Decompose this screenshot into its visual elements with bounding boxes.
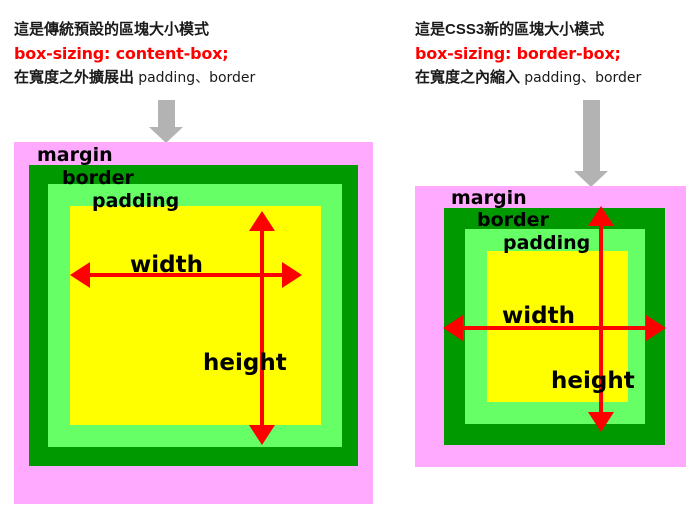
margin-label: margin — [451, 187, 527, 209]
height-label: height — [203, 350, 287, 376]
height-measure-arrow — [585, 206, 617, 432]
content-box-diagram: margin border padding — [14, 142, 373, 504]
arrow-vertical-line — [260, 225, 264, 431]
right-caption-line-1: 這是CSS3新的區塊大小模式 — [415, 18, 641, 42]
padding-label: padding — [503, 232, 590, 254]
arrow-down-icon — [574, 100, 609, 187]
right-caption-line-3-prefix: 在寬度之內縮入 — [415, 69, 520, 86]
border-label: border — [62, 167, 134, 189]
arrow-right-head — [646, 315, 666, 341]
height-label: height — [551, 368, 635, 394]
right-caption-code: box-sizing: border-box; — [415, 42, 641, 66]
arrow-right-head — [282, 262, 302, 288]
left-caption-code: box-sizing: content-box; — [14, 42, 255, 66]
right-caption-line-3-mono: padding、border — [524, 70, 641, 86]
margin-label: margin — [37, 144, 113, 166]
arrow-down-head — [574, 171, 608, 187]
height-measure-arrow — [246, 211, 278, 445]
arrow-down-shaft — [583, 100, 600, 171]
arrow-down-shaft — [158, 100, 175, 127]
width-label: width — [502, 303, 575, 329]
padding-label: padding — [92, 190, 179, 212]
left-caption-line-3-mono: padding、border — [138, 70, 255, 86]
width-label: width — [130, 252, 203, 278]
arrow-down-icon — [149, 100, 184, 143]
arrow-down-head — [588, 412, 614, 432]
right-caption-block: 這是CSS3新的區塊大小模式 box-sizing: border-box; 在… — [415, 18, 641, 90]
arrow-down-head — [149, 127, 183, 143]
left-caption-line-3-prefix: 在寬度之外擴展出 — [14, 69, 134, 86]
left-caption-block: 這是傳統預設的區塊大小模式 box-sizing: content-box; 在… — [14, 18, 255, 90]
left-caption-line-3: 在寬度之外擴展出 padding、border — [14, 66, 255, 90]
content-layer — [70, 206, 321, 425]
border-label: border — [477, 209, 549, 231]
left-caption-line-1: 這是傳統預設的區塊大小模式 — [14, 18, 255, 42]
arrow-down-head — [249, 425, 275, 445]
right-caption-line-3: 在寬度之內縮入 padding、border — [415, 66, 641, 90]
